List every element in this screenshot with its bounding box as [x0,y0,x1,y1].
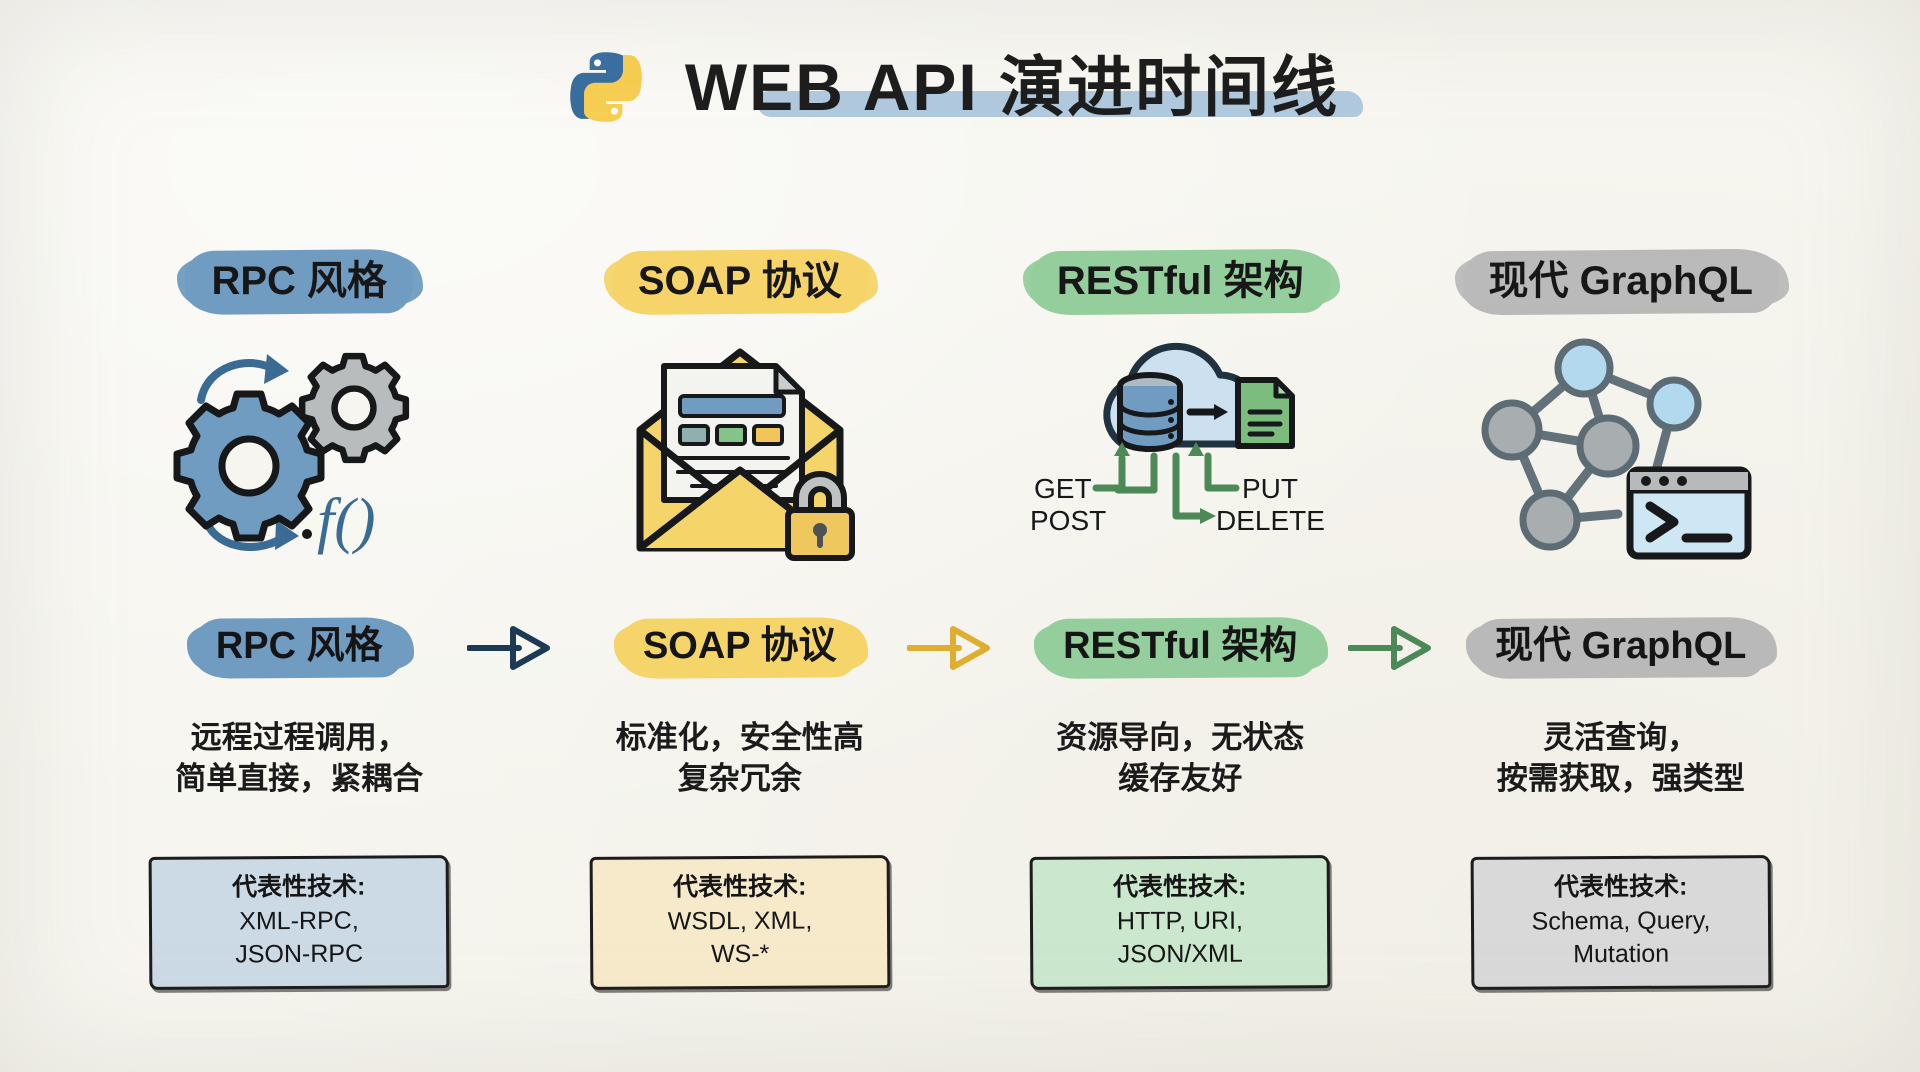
gears-function-icon: f() [177,354,406,555]
timeline-badge-label: RPC 风格 [216,625,383,667]
timeline-badge-label: 现代 GraphQL [1495,625,1746,667]
tech-box-graphql[interactable]: 代表性技术: Schema, Query, Mutation [1470,855,1771,989]
graph-network-terminal-icon [1485,342,1748,556]
timeline-badge-soap[interactable]: SOAP 协议 [621,618,859,678]
tech-heading: 代表性技术: [1495,870,1745,905]
terminal-window-icon [1630,470,1748,556]
padlock-icon [788,474,852,558]
arrow-right-icon [1348,621,1434,675]
tech-heading: 代表性技术: [174,870,424,905]
timeline-badge-graphql[interactable]: 现代 GraphQL [1473,618,1768,678]
tech-line: HTTP, URI, [1055,904,1305,939]
header-badge-rpc[interactable]: RPC 风格 [185,250,413,314]
svg-text:f(): f() [317,487,376,555]
method-label-delete: DELETE [1216,505,1325,536]
column-rpc: RPC 风格 [90,250,509,572]
tech-line: WSDL, XML, [615,904,865,939]
cloud-rest-methods-icon: GET PUT POST DELETE [1030,346,1325,536]
envelope-lock-icon [640,352,852,558]
tech-cell-rpc: 代表性技术: XML-RPC, JSON-RPC [90,856,509,989]
timeline-badge-label: RESTful 架构 [1063,625,1297,667]
timeline-cell-rpc: RPC 风格 [90,618,509,678]
database-icon [1120,375,1180,449]
descriptions-row: 远程过程调用， 简单直接，紧耦合 标准化，安全性高 复杂冗余 资源导向，无状态 … [90,718,1830,800]
tech-box-soap[interactable]: 代表性技术: WSDL, XML, WS-* [589,855,890,989]
header-badge-label: RESTful 架构 [1057,259,1304,303]
tech-line: XML-RPC, [174,904,424,939]
timeline-cell-graphql: 现代 GraphQL [1412,618,1831,678]
column-graphql: 现代 GraphQL [1412,250,1831,572]
tech-box-rpc[interactable]: 代表性技术: XML-RPC, JSON-RPC [149,855,450,989]
method-label-post: POST [1030,505,1106,536]
header-badge-label: SOAP 协议 [638,259,842,303]
tech-line: Schema, Query, [1496,904,1746,939]
timeline-row: RPC 风格 SOAP 协议 RESTful 架构 现代 GraphQL [90,618,1830,678]
icon-graph-network-terminal [1412,334,1831,566]
tech-line: Mutation [1496,937,1746,972]
method-label-put: PUT [1242,473,1298,504]
tech-heading: 代表性技术: [614,870,864,905]
tech-cell-soap: 代表性技术: WSDL, XML, WS-* [531,856,950,989]
timeline-badge-label: SOAP 协议 [643,625,837,667]
tech-cell-rest: 代表性技术: HTTP, URI, JSON/XML [971,856,1390,989]
description-soap: 标准化，安全性高 复杂冗余 [531,718,950,800]
icon-envelope-lock [531,334,950,566]
timeline-cell-soap: SOAP 协议 [531,618,950,678]
description-graphql: 灵活查询， 按需获取，强类型 [1412,718,1831,800]
description-rest: 资源导向，无状态 缓存友好 [971,718,1390,800]
page-title: WEB API 演进时间线 [685,50,1339,124]
arrow-right-icon [467,621,553,675]
tech-line: WS-* [615,937,865,972]
tech-box-rest[interactable]: 代表性技术: HTTP, URI, JSON/XML [1030,855,1331,989]
python-logo-icon [567,48,645,126]
column-rest: RESTful 架构 [971,250,1390,572]
icon-gears-function: f() [90,334,509,566]
category-columns: RPC 风格 [90,250,1830,572]
tech-heading: 代表性技术: [1055,870,1305,905]
column-soap: SOAP 协议 [531,250,950,572]
timeline-cell-rest: RESTful 架构 [971,618,1390,678]
tech-line: JSON-RPC [174,937,424,972]
function-label: f() [302,487,376,555]
header-badge-label: RPC 风格 [211,259,387,303]
header-badge-soap[interactable]: SOAP 协议 [612,250,868,314]
page-title-wrap: WEB API 演进时间线 [671,54,1353,120]
header-badge-label: 现代 GraphQL [1489,259,1753,303]
method-label-get: GET [1034,473,1092,504]
tech-line: JSON/XML [1055,937,1305,972]
description-rpc: 远程过程调用， 简单直接，紧耦合 [90,718,509,800]
timeline-badge-rest[interactable]: RESTful 架构 [1041,618,1319,678]
icon-cloud-rest-methods: GET PUT POST DELETE [971,334,1390,566]
method-arrows [1096,456,1236,516]
green-document-icon [1238,380,1292,446]
header-badge-rest[interactable]: RESTful 架构 [1031,250,1330,314]
tech-cell-graphql: 代表性技术: Schema, Query, Mutation [1412,856,1831,989]
page-header: WEB API 演进时间线 [0,48,1920,126]
tech-boxes-row: 代表性技术: XML-RPC, JSON-RPC 代表性技术: WSDL, XM… [90,856,1830,989]
header-badge-graphql[interactable]: 现代 GraphQL [1463,250,1779,314]
arrow-right-icon [907,621,993,675]
timeline-badge-rpc[interactable]: RPC 风格 [194,618,405,678]
